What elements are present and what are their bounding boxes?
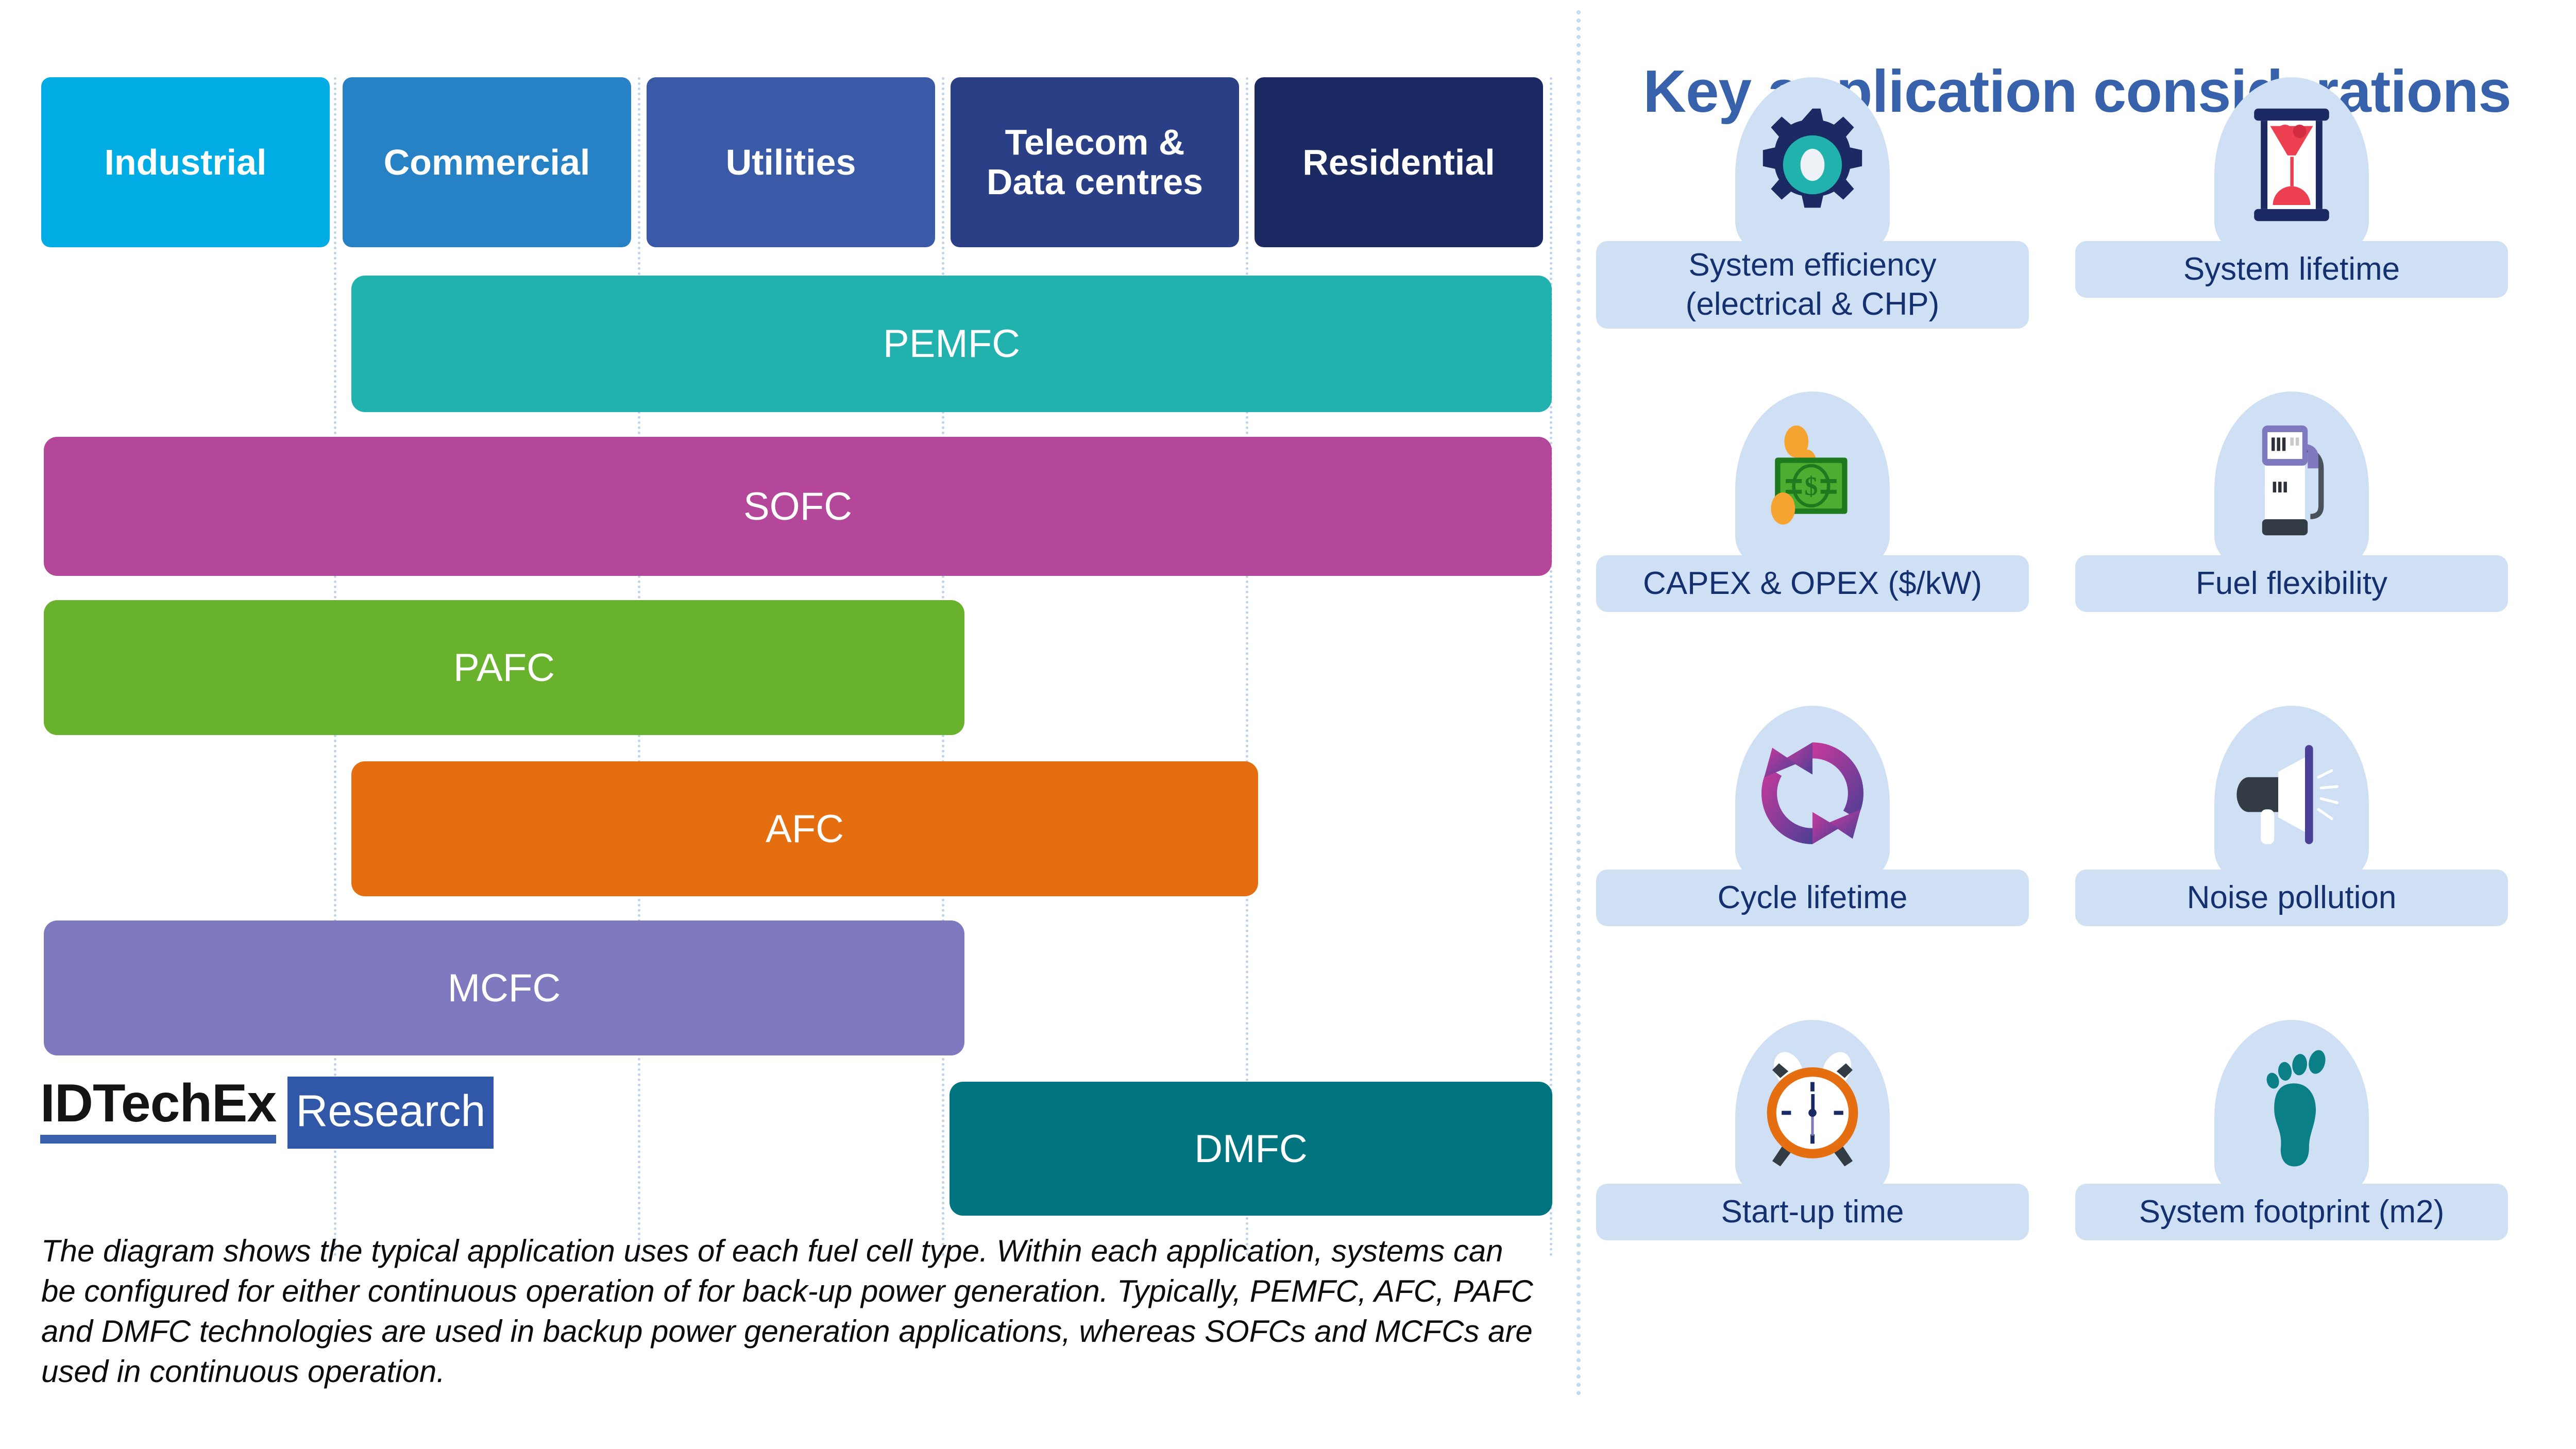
fuel-cell-bar-label: SOFC (743, 484, 852, 529)
fuel-cell-bar-label: MCFC (448, 966, 561, 1011)
fuel-cell-application-chart: IndustrialCommercialUtilitiesTelecom &Da… (0, 0, 1578, 1449)
fuel-cell-bar-mcfc[interactable]: MCFC (44, 920, 964, 1055)
fuel-cell-bar-label: DMFC (1194, 1127, 1308, 1171)
fuel-cell-bar-afc[interactable]: AFC (351, 761, 1258, 896)
consideration-label: Start-up time (1596, 1184, 2029, 1240)
logo-underline-rule (40, 1135, 276, 1144)
key-considerations-panel: Key application considerations System ef… (1578, 0, 2576, 1449)
application-card-label-line: Residential (1302, 143, 1495, 182)
application-card-residential[interactable]: Residential (1255, 77, 1543, 247)
application-card-commercial[interactable]: Commercial (343, 77, 631, 247)
megaphone-icon (2225, 726, 2359, 860)
logo-wordmark-wrap: IDTechEx (40, 1077, 276, 1144)
recycle-icon (1745, 726, 1879, 860)
fuel-cell-bar-label: PAFC (453, 645, 555, 690)
hourglass-icon (2225, 98, 2359, 232)
alarm-clock-icon (1745, 1041, 1879, 1174)
application-card-label-line: Data centres (987, 162, 1203, 202)
svg-text:$: $ (1804, 472, 1818, 501)
fuel-cell-bar-pemfc[interactable]: PEMFC (351, 276, 1552, 412)
consideration-label-text: System efficiency(electrical & CHP) (1686, 246, 1940, 323)
consideration-label-line: Start-up time (1721, 1192, 1904, 1232)
fuel-cell-bar-dmfc[interactable]: DMFC (950, 1082, 1552, 1216)
consideration-label-text: Start-up time (1721, 1192, 1904, 1232)
consideration-label-text: Noise pollution (2187, 878, 2397, 917)
fuel-cell-bar-pafc[interactable]: PAFC (44, 600, 964, 735)
consideration-label: Cycle lifetime (1596, 870, 2029, 926)
logo-wordmark: IDTechEx (40, 1077, 276, 1130)
application-card-label-line: Industrial (104, 143, 266, 182)
consideration-label: CAPEX & OPEX ($/kW) (1596, 555, 2029, 612)
consideration-label-text: Fuel flexibility (2196, 564, 2387, 603)
consideration-label-text: CAPEX & OPEX ($/kW) (1643, 564, 1982, 603)
application-card-label-line: Telecom & (1005, 123, 1185, 162)
consideration-label-line: System efficiency (1686, 246, 1940, 285)
consideration-label-line: System footprint (m2) (2139, 1192, 2445, 1232)
fuel-pump-icon (2225, 412, 2359, 546)
consideration-label-text: System lifetime (2183, 250, 2400, 289)
application-card-telecom[interactable]: Telecom &Data centres (951, 77, 1239, 247)
application-card-industrial[interactable]: Industrial (41, 77, 330, 247)
logo-research-badge: Research (287, 1077, 494, 1149)
consideration-label: System efficiency(electrical & CHP) (1596, 241, 2029, 329)
consideration-label-line: Noise pollution (2187, 878, 2397, 917)
application-card-label-line: Commercial (384, 143, 590, 182)
fuel-cell-bar-label: PEMFC (883, 321, 1020, 366)
consideration-label-line: Cycle lifetime (1718, 878, 1908, 917)
consideration-label: System footprint (m2) (2075, 1184, 2508, 1240)
fuel-cell-bar-label: AFC (766, 807, 844, 851)
panel-title: Key application considerations (1578, 57, 2576, 126)
gridline-4 (1550, 77, 1552, 1257)
application-card-label-line: Utilities (726, 143, 856, 182)
consideration-label: Noise pollution (2075, 870, 2508, 926)
gridline-3 (1246, 77, 1248, 1257)
chart-caption: The diagram shows the typical applicatio… (41, 1231, 1535, 1392)
consideration-label-line: Fuel flexibility (2196, 564, 2387, 603)
consideration-label: Fuel flexibility (2075, 555, 2508, 612)
fuel-cell-bar-sofc[interactable]: SOFC (44, 437, 1552, 576)
footprint-icon (2225, 1041, 2359, 1174)
consideration-label-line: CAPEX & OPEX ($/kW) (1643, 564, 1982, 603)
idtechex-research-logo: IDTechEx Research (40, 1077, 494, 1149)
consideration-label-line: System lifetime (2183, 250, 2400, 289)
consideration-label-text: Cycle lifetime (1718, 878, 1908, 917)
consideration-label: System lifetime (2075, 241, 2508, 298)
application-card-utilities[interactable]: Utilities (647, 77, 935, 247)
gear-icon (1745, 98, 1879, 232)
consideration-label-line: (electrical & CHP) (1686, 285, 1940, 324)
consideration-label-text: System footprint (m2) (2139, 1192, 2445, 1232)
money-icon: $ (1745, 412, 1879, 546)
